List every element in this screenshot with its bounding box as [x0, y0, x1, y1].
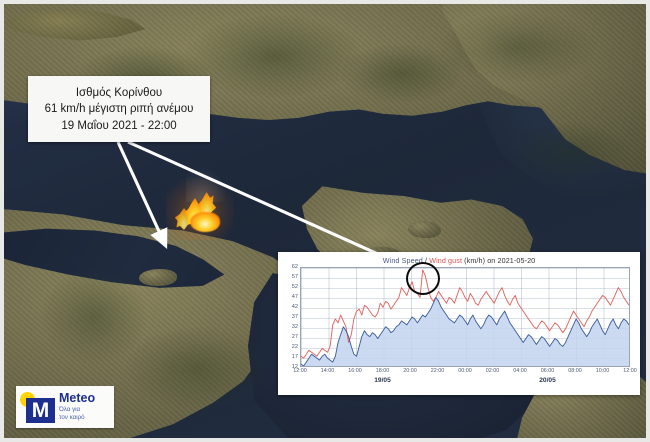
meteo-logo: M Meteo Όλα για τον καιρό [16, 386, 114, 428]
screenshot-root: Ισθμός Κορίνθου 61 km/h μέγιστη ριπή ανέ… [0, 0, 650, 442]
chart-title: Wind Speed / Wind gust (km/h) on 2021-05… [278, 256, 640, 265]
y-tick-label: 47 [292, 294, 298, 300]
x-tick-label: 20:00 [403, 368, 417, 374]
x-tick-label: 06:00 [541, 368, 555, 374]
x-tick-label: 18:00 [376, 368, 390, 374]
x-tick-label: 00:00 [458, 368, 472, 374]
chart-plot-wrapper: 1217222732374247525762 12:0014:0016:0018… [300, 267, 630, 367]
series-area-wind-speed [301, 297, 629, 366]
y-tick-label: 42 [292, 304, 298, 310]
chart-title-units-date: (km/h) on 2021-05-20 [462, 256, 535, 265]
x-tick-label: 16:00 [348, 368, 362, 374]
meteo-logo-text: Meteo Όλα για τον καιρό [59, 392, 95, 422]
x-tick-label: 14:00 [321, 368, 335, 374]
y-tick-label: 27 [292, 334, 298, 340]
callout-label: Ισθμός Κορίνθου 61 km/h μέγιστη ριπή ανέ… [28, 76, 210, 142]
x-tick-label: 22:00 [431, 368, 445, 374]
y-tick-label: 52 [292, 284, 298, 290]
chart-title-gust: Wind gust [429, 256, 462, 265]
y-tick-label: 57 [292, 274, 298, 280]
x-tick-label: 12:00 [623, 368, 637, 374]
x-tick-label: 10:00 [596, 368, 610, 374]
meteo-m-letter: M [26, 398, 55, 423]
y-tick-label: 62 [292, 264, 298, 270]
map-island-small-b [139, 269, 178, 286]
peak-gust-highlight-circle [406, 262, 440, 295]
meteo-tagline-line2: τον καιρό [59, 414, 95, 422]
meteo-logo-mark: M [20, 389, 56, 425]
callout-line-location: Ισθμός Κορίνθου [34, 85, 204, 101]
chart-series-svg [301, 268, 629, 366]
callout-line-datetime: 19 Μαΐου 2021 - 22:00 [34, 118, 204, 134]
x-tick-label: 02:00 [486, 368, 500, 374]
chart-plot-area [300, 267, 630, 367]
x-tick-label: 04:00 [513, 368, 527, 374]
y-tick-label: 22 [292, 344, 298, 350]
meteo-tagline-line1: Όλα για [59, 406, 95, 414]
meteo-tagline: Όλα για τον καιρό [59, 406, 95, 422]
callout-line-gust: 61 km/h μέγιστη ριπή ανέμου [34, 101, 204, 117]
y-tick-label: 37 [292, 314, 298, 320]
y-tick-label: 32 [292, 324, 298, 330]
y-tick-label: 17 [292, 354, 298, 360]
x-day-label: 19/05 [374, 377, 391, 384]
x-day-label: 20/05 [539, 377, 556, 384]
map-island-small-a [408, 221, 440, 238]
meteo-brand-name: Meteo [59, 392, 95, 405]
x-tick-label: 12:00 [293, 368, 307, 374]
x-tick-label: 08:00 [568, 368, 582, 374]
wind-chart-panel: Wind Speed / Wind gust (km/h) on 2021-05… [278, 252, 640, 395]
